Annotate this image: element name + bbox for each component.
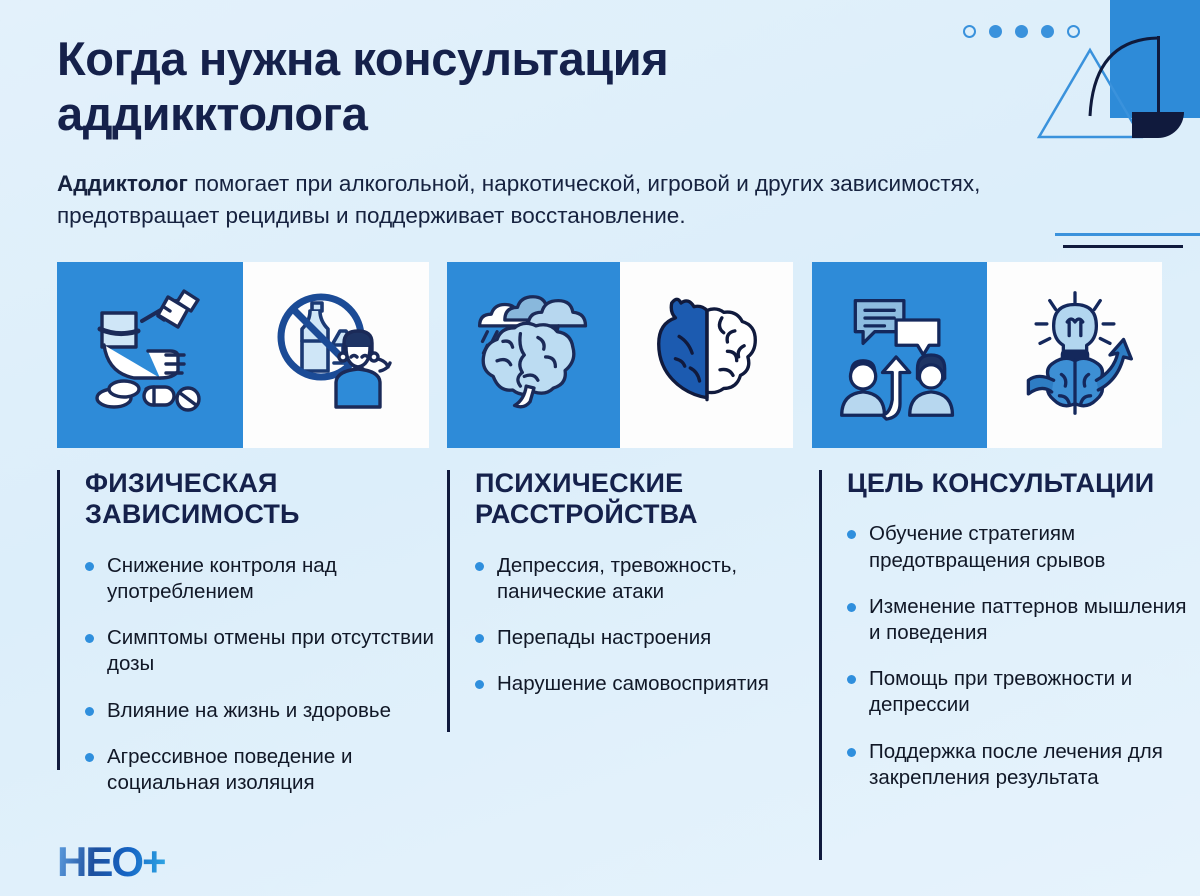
- list-item: Симптомы отмены при отсутствии дозы: [85, 625, 447, 677]
- icon-tiles: [57, 262, 1162, 448]
- tile-white-1: [243, 262, 429, 448]
- infographic-canvas: Когда нужна консультация аддикктолога Ад…: [0, 0, 1200, 896]
- column-list: Обучение стратегиям предотвращения срыво…: [847, 521, 1199, 791]
- column-list: Снижение контроля над употреблением Симп…: [85, 553, 447, 797]
- list-item: Помощь при тревожности и депрессии: [847, 666, 1199, 718]
- arm-syringe-pills-icon: [80, 285, 220, 425]
- no-alcohol-sad-person-icon: [266, 285, 406, 425]
- list-item: Поддержка после лечения для закрепления …: [847, 739, 1199, 791]
- people-speech-bubbles-arrow-icon: [832, 287, 968, 423]
- subtitle-lead: Аддиктолог: [57, 171, 188, 196]
- tile-pair-mental: [447, 262, 794, 448]
- column-physical-dependence: ФИЗИЧЕСКАЯ ЗАВИСИМОСТЬ Снижение контроля…: [57, 468, 447, 816]
- storm-cloud-brain-icon: [466, 287, 602, 423]
- column-heading: ПСИХИЧЕСКИЕ РАССТРОЙСТВА: [475, 468, 819, 531]
- column-heading: ЦЕЛЬ КОНСУЛЬТАЦИИ: [847, 468, 1199, 499]
- list-item: Нарушение самовосприятия: [475, 671, 819, 697]
- blue-rule-decoration: [1055, 233, 1200, 236]
- column-list: Депрессия, тревожность, панические атаки…: [475, 553, 819, 698]
- column-consultation-goal: ЦЕЛЬ КОНСУЛЬТАЦИИ Обучение стратегиям пр…: [819, 468, 1199, 816]
- list-item: Снижение контроля над употреблением: [85, 553, 447, 605]
- column-heading: ФИЗИЧЕСКАЯ ЗАВИСИМОСТЬ: [85, 468, 447, 531]
- page-title: Когда нужна консультация аддикктолога: [57, 32, 857, 141]
- list-item: Изменение паттернов мышления и поведения: [847, 594, 1199, 646]
- list-item: Перепады настроения: [475, 625, 819, 651]
- heart-brain-halves-icon: [642, 290, 772, 420]
- list-item: Обучение стратегиям предотвращения срыво…: [847, 521, 1199, 573]
- tile-pair-physical: [57, 262, 429, 448]
- subtitle-rest: помогает при алкогольной, наркотической,…: [57, 171, 980, 228]
- brand-logo: НЕО+: [57, 841, 165, 883]
- tile-blue-1: [57, 262, 243, 448]
- navy-vertical-line-decoration: [1157, 36, 1160, 118]
- tile-white-3: [987, 262, 1162, 448]
- header: Когда нужна консультация аддикктолога Ад…: [57, 32, 1077, 232]
- tile-pair-goal: [812, 262, 1162, 448]
- tile-blue-3: [812, 262, 987, 448]
- content-columns: ФИЗИЧЕСКАЯ ЗАВИСИМОСТЬ Снижение контроля…: [57, 468, 1199, 816]
- list-item: Депрессия, тревожность, панические атаки: [475, 553, 819, 605]
- lightbulb-brain-arrows-icon: [1007, 287, 1143, 423]
- navy-rule-decoration: [1063, 245, 1183, 248]
- tile-blue-2: [447, 262, 620, 448]
- column-mental-disorders: ПСИХИЧЕСКИЕ РАССТРОЙСТВА Депрессия, трев…: [447, 468, 819, 816]
- page-subtitle: Аддиктолог помогает при алкогольной, нар…: [57, 168, 1077, 232]
- tile-white-2: [620, 262, 793, 448]
- list-item: Агрессивное поведение и социальная изоля…: [85, 744, 447, 796]
- list-item: Влияние на жизнь и здоровье: [85, 698, 447, 724]
